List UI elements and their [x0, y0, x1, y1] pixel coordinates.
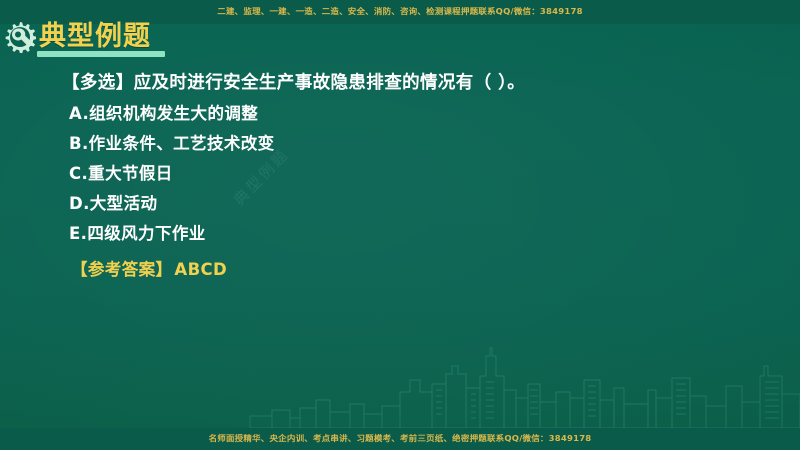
question-stem: 【多选】应及时进行安全生产事故隐患排查的情况有（ ）。: [62, 70, 762, 96]
bottom-promo-banner: 名师面授精华、央企内训、考点串讲、习题模考、考前三页纸、绝密押题联系QQ/微信：…: [0, 428, 800, 450]
option-e[interactable]: E.四级风力下作业: [69, 222, 762, 246]
answer-value: ABCD: [174, 260, 227, 279]
city-skyline-decoration: [0, 318, 800, 428]
option-b[interactable]: B.作业条件、工艺技术改变: [69, 132, 762, 156]
top-promo-text: 二建、监理、一建、一造、二造、安全、消防、咨询、检测课程押题联系QQ/微信：38…: [217, 8, 582, 16]
answer-row: 【参考答案】ABCD: [71, 258, 762, 282]
slide-title-wrap: 典型例题: [39, 22, 151, 52]
slide-title-label: 典型例题: [39, 22, 151, 52]
slide-title-badge: 典型例题: [0, 18, 151, 56]
answer-label: 【参考答案】: [71, 260, 172, 279]
option-c[interactable]: C.重大节假日: [69, 162, 762, 186]
gear-wrench-icon: [4, 21, 36, 53]
option-a[interactable]: A.组织机构发生大的调整: [69, 102, 762, 126]
slide-title-underline: [37, 51, 165, 57]
slide-canvas: 典型例题: [0, 0, 800, 450]
bottom-promo-text: 名师面授精华、央企内训、考点串讲、习题模考、考前三页纸、绝密押题联系QQ/微信：…: [209, 435, 592, 443]
option-d[interactable]: D.大型活动: [69, 192, 762, 216]
question-block: 【多选】应及时进行安全生产事故隐患排查的情况有（ ）。 A.组织机构发生大的调整…: [62, 70, 762, 282]
